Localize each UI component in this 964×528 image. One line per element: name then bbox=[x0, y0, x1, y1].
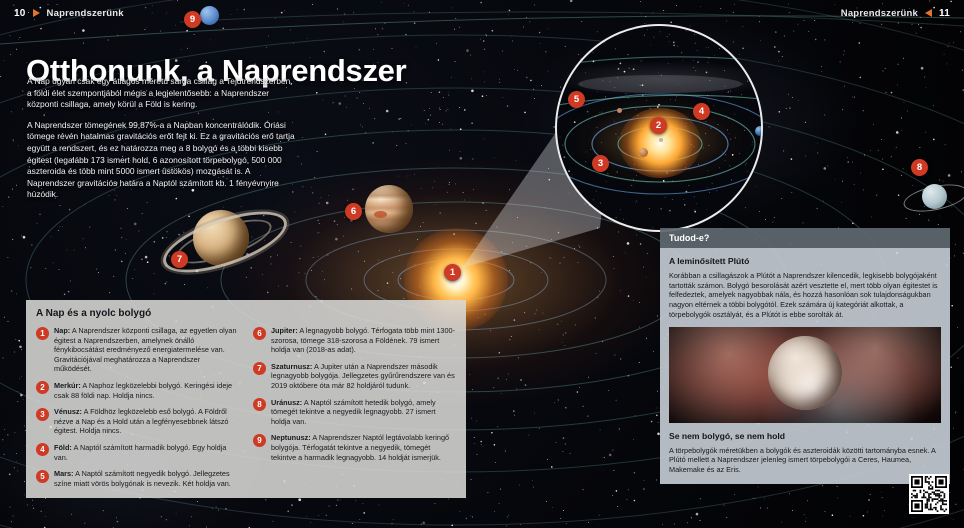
fact-item-text: Szaturnusz: A Jupiter után a Naprendszer… bbox=[271, 362, 456, 391]
fact-item-number: 3 bbox=[36, 408, 49, 421]
fact-item-text: Jupiter: A legnagyobb bolygó. Térfogata … bbox=[271, 326, 456, 355]
page-number-right: 11 bbox=[939, 8, 950, 19]
fact-item: 9Neptunusz: A Naprendszer Naptól legtávo… bbox=[253, 433, 456, 462]
fact-item-description: A Naptól számított harmadik bolygó. Egy … bbox=[54, 443, 226, 462]
inset-planet-mercury[interactable] bbox=[659, 138, 663, 142]
did-you-know-body: A leminősített Plútó Korábban a csillagá… bbox=[660, 248, 950, 484]
fact-item-number: 7 bbox=[253, 362, 266, 375]
pluto-section-text: Korábban a csillagászok a Plútót a Napre… bbox=[669, 271, 941, 320]
header-right[interactable]: Naprendszerünk 11 bbox=[841, 0, 950, 26]
fact-item: 1Nap: A Naprendszer központi csillaga, a… bbox=[36, 326, 239, 374]
qr-code-icon bbox=[911, 476, 947, 512]
fact-item-name: Neptunusz: bbox=[271, 433, 311, 442]
fact-item: 6Jupiter: A legnagyobb bolygó. Térfogata… bbox=[253, 326, 456, 355]
dwarf-section-title: Se nem bolygó, se nem hold bbox=[669, 431, 941, 441]
marker-neptune[interactable]: 9 bbox=[184, 11, 201, 28]
fact-item-description: A legnagyobb bolygó. Térfogata több mint… bbox=[271, 326, 455, 354]
fact-item-name: Merkúr: bbox=[54, 381, 81, 390]
did-you-know-box: Tudod-e? A leminősített Plútó Korábban a… bbox=[660, 228, 950, 484]
fact-item-name: Nap: bbox=[54, 326, 70, 335]
inset-planet-venus[interactable] bbox=[639, 148, 648, 157]
fact-item-description: A Naprendszer központi csillaga, az egye… bbox=[54, 326, 237, 373]
fact-item-name: Vénusz: bbox=[54, 407, 82, 416]
pluto-sphere bbox=[768, 336, 842, 410]
header-left-label: Naprendszerünk bbox=[47, 8, 124, 19]
fact-item-name: Szaturnusz: bbox=[271, 362, 312, 371]
fact-item-number: 5 bbox=[36, 470, 49, 483]
fact-item-number: 2 bbox=[36, 381, 49, 394]
qr-code[interactable] bbox=[909, 474, 949, 514]
fact-item: 8Uránusz: A Naptól számított hetedik bol… bbox=[253, 398, 456, 427]
fact-item-number: 9 bbox=[253, 434, 266, 447]
dwarf-section-text: A törpebolygók méretükben a bolygók és a… bbox=[669, 446, 941, 475]
intro-paragraph-1: A Nap ugyan csak egy átlagos méretű sárg… bbox=[27, 76, 295, 111]
fact-item-description: A Naptól számított negyedik bolygó. Jell… bbox=[54, 469, 231, 488]
fact-item-text: Mars: A Naptól számított negyedik bolygó… bbox=[54, 469, 239, 488]
pluto-photo bbox=[669, 327, 941, 423]
fact-item-description: A Naphoz legközelebbi bolygó. Keringési … bbox=[54, 381, 232, 400]
marker-jupiter[interactable]: 6 bbox=[345, 203, 362, 220]
fact-item-text: Uránusz: A Naptól számított hetedik boly… bbox=[271, 398, 456, 427]
fact-item-text: Merkúr: A Naphoz legközelebbi bolygó. Ke… bbox=[54, 381, 239, 400]
fact-item-number: 6 bbox=[253, 327, 266, 340]
header-right-label: Naprendszerünk bbox=[841, 8, 918, 19]
fact-item: 2Merkúr: A Naphoz legközelebbi bolygó. K… bbox=[36, 381, 239, 400]
fact-item-text: Vénusz: A Földhöz legközelebb eső bolygó… bbox=[54, 407, 239, 436]
page-root: 10 Naprendszerünk Naprendszerünk 11 Otth… bbox=[0, 0, 964, 528]
fact-item-number: 4 bbox=[36, 443, 49, 456]
fact-item-text: Neptunusz: A Naprendszer Naptól legtávol… bbox=[271, 433, 456, 462]
marker-mercury[interactable]: 2 bbox=[650, 117, 667, 134]
fact-item-name: Föld: bbox=[54, 443, 72, 452]
fact-item-text: Föld: A Naptól számított harmadik bolygó… bbox=[54, 443, 239, 462]
intro-text: A Nap ugyan csak egy átlagos méretű sárg… bbox=[27, 76, 295, 210]
inset-planet-earth[interactable] bbox=[755, 126, 763, 136]
intro-paragraph-2: A Naprendszer tömegének 99,87%-a a Napba… bbox=[27, 120, 295, 201]
header-left[interactable]: 10 Naprendszerünk bbox=[14, 0, 124, 26]
fact-item-text: Nap: A Naprendszer központi csillaga, az… bbox=[54, 326, 239, 374]
fact-item: 7Szaturnusz: A Jupiter után a Naprendsze… bbox=[253, 362, 456, 391]
fact-column-right: 6Jupiter: A legnagyobb bolygó. Térfogata… bbox=[253, 326, 456, 495]
fact-box-heading: A Nap és a nyolc bolygó bbox=[36, 308, 456, 319]
triangle-left-icon bbox=[925, 9, 932, 17]
marker-earth[interactable]: 4 bbox=[693, 103, 710, 120]
inset-planet-mars[interactable] bbox=[617, 108, 622, 113]
fact-item-number: 8 bbox=[253, 398, 266, 411]
marker-uranus[interactable]: 8 bbox=[911, 159, 928, 176]
fact-item: 4Föld: A Naptól számított harmadik bolyg… bbox=[36, 443, 239, 462]
fact-box: A Nap és a nyolc bolygó 1Nap: A Naprends… bbox=[26, 300, 466, 498]
fact-item-name: Mars: bbox=[54, 469, 73, 478]
fact-item-name: Jupiter: bbox=[271, 326, 298, 335]
pluto-section-title: A leminősített Plútó bbox=[669, 256, 941, 266]
triangle-right-icon bbox=[33, 9, 40, 17]
fact-item: 3Vénusz: A Földhöz legközelebb eső bolyg… bbox=[36, 407, 239, 436]
did-you-know-header: Tudod-e? bbox=[660, 228, 950, 248]
marker-venus[interactable]: 3 bbox=[592, 155, 609, 172]
marker-mars[interactable]: 5 bbox=[568, 91, 585, 108]
fact-item-name: Uránusz: bbox=[271, 398, 302, 407]
marker-saturn[interactable]: 7 bbox=[171, 251, 188, 268]
fact-item: 5Mars: A Naptól számított negyedik bolyg… bbox=[36, 469, 239, 488]
page-number-left: 10 bbox=[14, 8, 26, 19]
marker-sun[interactable]: 1 bbox=[444, 264, 461, 281]
fact-item-number: 1 bbox=[36, 327, 49, 340]
fact-column-left: 1Nap: A Naprendszer központi csillaga, a… bbox=[36, 326, 239, 495]
